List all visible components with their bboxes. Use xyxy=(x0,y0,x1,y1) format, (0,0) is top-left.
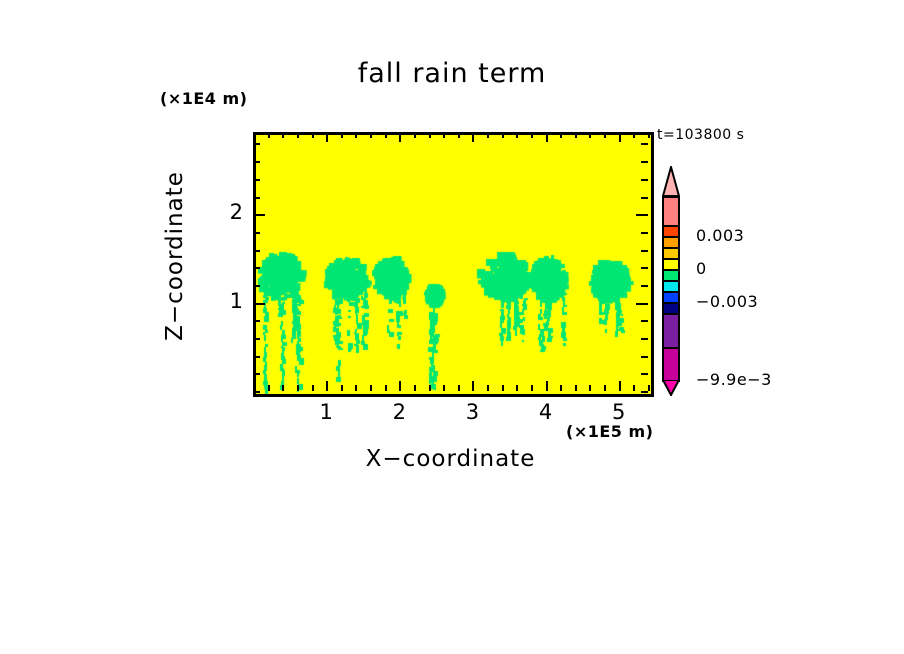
y-tick xyxy=(641,232,648,234)
colorbar-band-separator xyxy=(662,236,680,238)
x-tick xyxy=(312,132,314,138)
time-annotation: t=103800 s xyxy=(657,127,744,143)
y-tick xyxy=(641,373,648,375)
colorbar-band-separator xyxy=(662,280,680,282)
x-tick xyxy=(487,385,489,391)
x-tick xyxy=(531,132,533,138)
x-tick xyxy=(443,132,445,138)
x-tick xyxy=(414,132,416,138)
x-tick xyxy=(633,132,635,138)
colorbar-band-separator xyxy=(662,347,680,349)
y-tick xyxy=(253,232,260,234)
x-tick xyxy=(560,132,562,138)
y-tick-label: 1 xyxy=(203,289,243,313)
colorbar-band-separator xyxy=(662,302,680,304)
x-tick xyxy=(502,132,504,138)
x-tick xyxy=(502,385,504,391)
figure-canvas: fall rain term (×1E4 m) (×1E5 m) t=10380… xyxy=(0,0,904,654)
x-tick xyxy=(487,132,489,138)
x-tick xyxy=(546,132,548,142)
x-tick xyxy=(399,381,401,391)
x-tick xyxy=(268,385,270,391)
y-tick xyxy=(253,197,260,199)
x-tick xyxy=(619,132,621,142)
x-tick xyxy=(268,132,270,138)
y-tick xyxy=(253,267,260,269)
y-tick xyxy=(253,250,260,252)
x-tick xyxy=(341,385,343,391)
x-tick xyxy=(282,132,284,138)
y-tick xyxy=(253,373,260,375)
x-tick xyxy=(385,385,387,391)
y-tick xyxy=(641,197,648,199)
x-tick xyxy=(472,381,474,391)
x-tick xyxy=(560,385,562,391)
x-tick xyxy=(531,385,533,391)
x-tick xyxy=(385,132,387,138)
x-tick xyxy=(546,381,548,391)
y-tick xyxy=(641,250,648,252)
colorbar-band-separator xyxy=(662,291,680,293)
colorbar-band-separator xyxy=(662,247,680,249)
x-tick xyxy=(648,132,650,138)
x-tick-label: 3 xyxy=(452,400,492,424)
plot-area xyxy=(253,132,654,397)
x-tick-label: 1 xyxy=(306,400,346,424)
x-tick xyxy=(604,385,606,391)
x-tick xyxy=(429,385,431,391)
colorbar-band-separator xyxy=(662,313,680,315)
x-tick xyxy=(619,381,621,391)
y-tick xyxy=(641,143,648,145)
colorbar-band xyxy=(662,347,680,380)
x-tick xyxy=(355,132,357,138)
colorbar-band-separator xyxy=(662,196,680,198)
y-tick xyxy=(641,285,648,287)
x-tick xyxy=(297,385,299,391)
x-tick xyxy=(516,132,518,138)
colorbar-tick-label: −9.9e−3 xyxy=(696,370,772,389)
x-tick xyxy=(589,132,591,138)
colorbar-tick-label: −0.003 xyxy=(696,292,758,311)
colorbar-extend-bottom xyxy=(662,380,680,396)
x-tick-label: 5 xyxy=(599,400,639,424)
colorbar-tick-label: 0.003 xyxy=(696,226,744,245)
y-tick xyxy=(641,320,648,322)
colorbar-band-separator xyxy=(662,258,680,260)
y-tick xyxy=(253,356,260,358)
colorbar xyxy=(662,166,680,396)
y-tick xyxy=(253,338,260,340)
x-tick xyxy=(370,132,372,138)
y-tick xyxy=(253,320,260,322)
x-tick xyxy=(604,132,606,138)
x-tick xyxy=(282,385,284,391)
y-tick xyxy=(253,179,260,181)
y-tick xyxy=(253,143,260,145)
heatmap-canvas xyxy=(256,135,651,394)
colorbar-band-separator xyxy=(662,269,680,271)
x-tick xyxy=(575,385,577,391)
y-tick xyxy=(253,161,260,163)
x-tick xyxy=(633,385,635,391)
x-tick xyxy=(399,132,401,142)
x-tick xyxy=(458,385,460,391)
x-tick xyxy=(312,385,314,391)
x-tick xyxy=(458,132,460,138)
x-tick xyxy=(516,385,518,391)
x-tick xyxy=(575,132,577,138)
x-tick-label: 4 xyxy=(526,400,566,424)
x-tick xyxy=(297,132,299,138)
x-tick xyxy=(443,385,445,391)
y-tick xyxy=(253,391,260,393)
colorbar-extend-top xyxy=(662,166,680,196)
y-tick xyxy=(253,303,265,305)
y-tick xyxy=(636,214,648,216)
x-axis-units-label: (×1E5 m) xyxy=(566,422,653,441)
y-tick xyxy=(641,338,648,340)
x-tick xyxy=(341,132,343,138)
colorbar-tick-label: 0 xyxy=(696,259,707,278)
x-tick xyxy=(429,132,431,138)
y-tick xyxy=(253,285,260,287)
x-tick xyxy=(326,132,328,142)
y-tick xyxy=(641,161,648,163)
y-tick xyxy=(641,391,648,393)
x-tick xyxy=(472,132,474,142)
y-tick xyxy=(641,356,648,358)
y-tick-label: 2 xyxy=(203,200,243,224)
y-tick xyxy=(253,214,265,216)
x-tick xyxy=(355,385,357,391)
x-tick xyxy=(253,132,255,138)
y-tick xyxy=(641,179,648,181)
colorbar-band-separator xyxy=(662,225,680,227)
x-tick-label: 2 xyxy=(379,400,419,424)
colorbar-band xyxy=(662,196,680,225)
x-tick xyxy=(370,385,372,391)
x-tick xyxy=(589,385,591,391)
y-tick xyxy=(641,267,648,269)
x-tick xyxy=(326,381,328,391)
x-tick xyxy=(414,385,416,391)
y-tick xyxy=(636,303,648,305)
page-title: fall rain term xyxy=(0,58,904,89)
x-axis-title: X−coordinate xyxy=(253,446,648,472)
colorbar-band xyxy=(662,313,680,346)
y-axis-title: Z−coordinate xyxy=(162,76,188,436)
x-tick xyxy=(648,385,650,391)
